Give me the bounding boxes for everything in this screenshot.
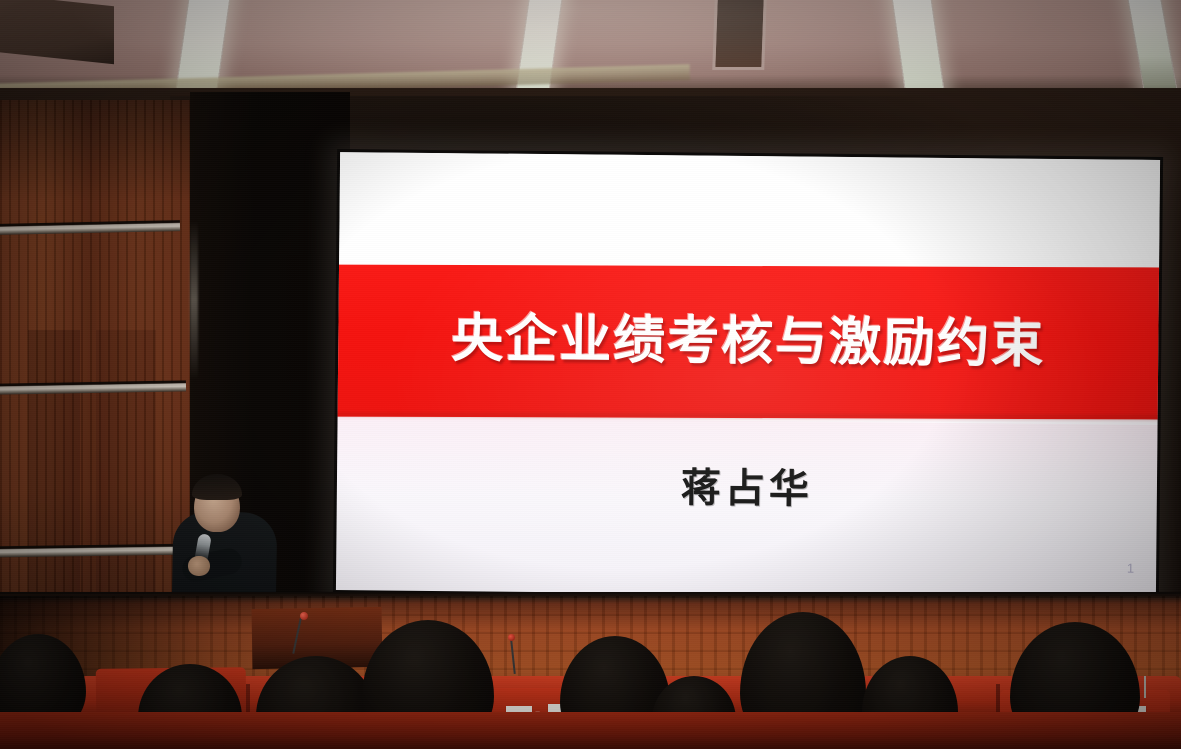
conference-hall-scene: 央企业绩考核与激励约束 蒋占华 1 北省财 [0, 0, 1181, 749]
slide-presenter-name: 蒋占华 [337, 452, 1158, 518]
mic-stand-2-light [508, 634, 515, 641]
seat-row-front [0, 712, 1181, 749]
pillar-edge-highlight [190, 220, 198, 380]
projection-screen[interactable]: 央企业绩考核与激励约束 蒋占华 1 [333, 149, 1163, 603]
speaker-hand-upper [188, 556, 210, 576]
slide-top-area [339, 152, 1160, 272]
mic-stand-1-light [300, 612, 308, 620]
slide-title: 央企业绩考核与激励约束 [338, 295, 1159, 378]
slide-page-number: 1 [1127, 561, 1134, 576]
presentation-slide: 央企业绩考核与激励约束 蒋占华 1 [336, 152, 1160, 598]
pen-2 [1144, 676, 1146, 698]
ceiling-dark-recess [712, 0, 767, 70]
